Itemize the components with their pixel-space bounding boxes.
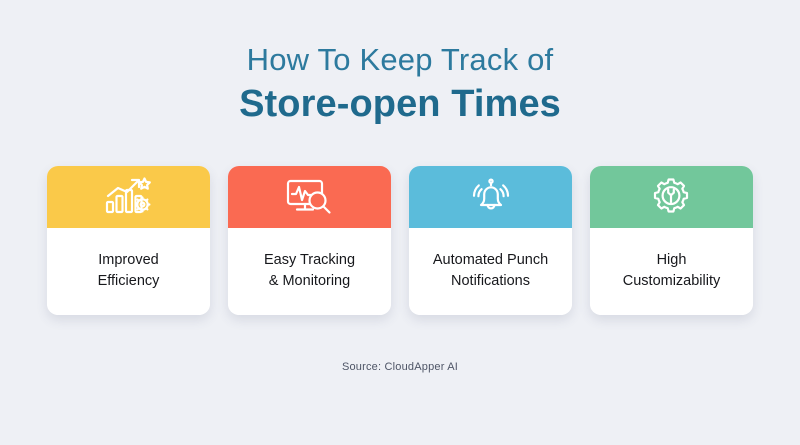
feature-card-improved-efficiency: Improved Efficiency xyxy=(47,166,210,315)
card-header-4 xyxy=(590,166,753,228)
growth-chart-gear-icon xyxy=(103,176,155,218)
card-label-3: Automated Punch Notifications xyxy=(433,250,548,292)
title-line-2: Store-open Times xyxy=(0,81,800,127)
card-label-4: High Customizability xyxy=(623,250,721,292)
monitor-search-icon xyxy=(284,176,336,218)
card-header-1 xyxy=(47,166,210,228)
infographic: How To Keep Track of Store-open Times xyxy=(0,0,800,445)
card-body-4: High Customizability xyxy=(590,228,753,315)
card-body-1: Improved Efficiency xyxy=(47,228,210,315)
title-line-1: How To Keep Track of xyxy=(0,42,800,79)
source-credit: Source: CloudApper AI xyxy=(0,361,800,373)
feature-card-easy-tracking: Easy Tracking & Monitoring xyxy=(228,166,391,315)
feature-card-high-customizability: High Customizability xyxy=(590,166,753,315)
card-label-2: Easy Tracking & Monitoring xyxy=(264,250,355,292)
feature-cards-row: Improved Efficiency xyxy=(47,166,753,315)
gear-wrench-icon xyxy=(650,176,694,218)
card-header-2 xyxy=(228,166,391,228)
card-header-3 xyxy=(409,166,572,228)
page-title: How To Keep Track of Store-open Times xyxy=(0,42,800,127)
card-label-1: Improved Efficiency xyxy=(98,250,160,292)
feature-card-automated-punch: Automated Punch Notifications xyxy=(409,166,572,315)
card-body-3: Automated Punch Notifications xyxy=(409,228,572,315)
ringing-bell-icon xyxy=(468,176,514,218)
card-body-2: Easy Tracking & Monitoring xyxy=(228,228,391,315)
